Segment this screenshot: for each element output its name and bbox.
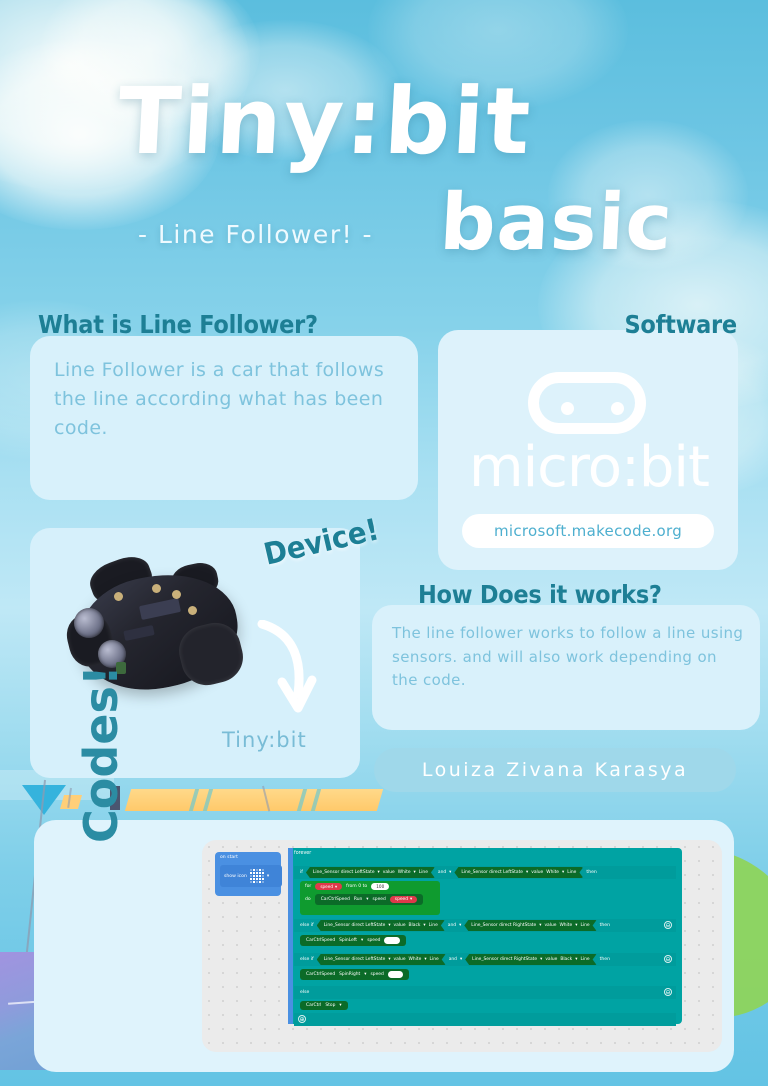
block-for-loop[interactable]: for speed ▾ from 0 to 100 do CarCtrlSpee…	[300, 881, 440, 915]
how-it-works-heading: How Does it works?	[418, 580, 662, 609]
condition-right-3[interactable]: Line_Sensor direct RightState ▾ value Bl…	[465, 954, 596, 965]
value-label: value	[544, 923, 556, 928]
block-else-row[interactable]: else ⊖	[294, 986, 676, 999]
chevron-down-icon[interactable]: ▾	[459, 923, 461, 928]
line-label: Line	[419, 870, 428, 875]
chevron-down-icon[interactable]: ▾	[575, 957, 577, 962]
operator-and-1[interactable]: and	[438, 870, 446, 875]
page-title-secondary: basic	[438, 178, 676, 268]
what-is-line-follower-heading: What is Line Follower?	[38, 310, 318, 339]
robot-connector	[188, 606, 197, 615]
poster-title-group: Tiny:bit basic - Line Follower! -	[0, 60, 768, 290]
chevron-down-icon[interactable]: ▾	[540, 957, 542, 962]
line-label: Line	[580, 957, 589, 962]
then-keyword-2: then	[600, 923, 610, 928]
block-spine	[288, 848, 293, 1024]
chevron-down-icon[interactable]: ▾	[414, 870, 416, 875]
loop-variable-pill[interactable]: speed ▾	[315, 883, 342, 890]
chevron-down-icon[interactable]: ▾	[366, 897, 368, 902]
microbit-eye-right-icon	[611, 402, 624, 415]
speed-value-input-3[interactable]: 55	[388, 971, 404, 978]
sensor-name: Line_Sensor direct LeftState	[313, 870, 375, 875]
author-name: Louiza Zivana Karasya	[422, 759, 688, 781]
block-forever-label: forever	[294, 851, 311, 856]
block-mode: SpinLeft	[339, 938, 357, 943]
line-label: Line	[430, 957, 439, 962]
robot-connector	[114, 592, 123, 601]
color-value: Black	[409, 923, 421, 928]
block-else-if-row-2[interactable]: else if Line_Sensor direct LeftState ▾ v…	[294, 919, 676, 932]
block-name: CarCtrlSpeed	[306, 972, 335, 977]
for-loop-body: do CarCtrlSpeed Run ▾ speed speed ▾	[300, 892, 440, 907]
block-else-if-row-3[interactable]: else if Line_Sensor direct LeftState ▾ v…	[294, 953, 676, 966]
line-label: Line	[429, 923, 438, 928]
value-label: value	[531, 870, 543, 875]
operator-and-2[interactable]: and	[448, 923, 456, 928]
operator-and-3[interactable]: and	[449, 957, 457, 962]
color-value: White	[546, 870, 559, 875]
block-mode: SpinRight	[339, 972, 360, 977]
speed-label: speed	[367, 938, 380, 943]
speed-label: speed	[371, 972, 384, 977]
condition-right-2[interactable]: Line_Sensor direct RightState ▾ value Wh…	[464, 920, 596, 931]
value-label: value	[394, 957, 406, 962]
chevron-down-icon[interactable]: ▾	[378, 870, 380, 875]
robot-connector	[152, 584, 161, 593]
led-matrix-icon	[250, 869, 264, 883]
chevron-down-icon[interactable]: ▾	[364, 972, 366, 977]
value-label: value	[394, 923, 406, 928]
color-value: Black	[560, 957, 572, 962]
chevron-down-icon[interactable]: ▾	[388, 923, 390, 928]
chevron-down-icon[interactable]: ▾	[526, 870, 528, 875]
do-keyword: do	[305, 897, 311, 902]
show-icon-dropdown-icon[interactable]: ▾	[267, 874, 269, 879]
makecode-url-pill[interactable]: microsoft.makecode.org	[462, 514, 714, 548]
then-keyword-1: then	[586, 870, 596, 875]
chevron-down-icon[interactable]: ▾	[410, 897, 412, 902]
chevron-down-icon[interactable]: ▾	[361, 938, 363, 943]
software-heading: Software	[624, 310, 736, 339]
makecode-url-text: microsoft.makecode.org	[494, 522, 682, 540]
chevron-down-icon[interactable]: ▾	[539, 923, 541, 928]
microbit-logo-icon	[528, 372, 646, 434]
block-name: CarCtrlSpeed	[306, 938, 335, 943]
collapse-icon[interactable]: ⊖	[664, 955, 672, 963]
condition-left-2[interactable]: Line_Sensor direct LeftState ▾ value Bla…	[317, 920, 445, 931]
chevron-down-icon[interactable]: ▾	[424, 957, 426, 962]
line-label: Line	[580, 923, 589, 928]
block-show-icon-label: show icon	[224, 874, 247, 879]
chevron-down-icon[interactable]: ▾	[562, 870, 564, 875]
block-carctrl-stop[interactable]: CarCtrl Stop ▾	[300, 1001, 348, 1010]
else-if-keyword-2: else if	[300, 923, 314, 928]
block-if-footer: ⊕	[294, 1013, 676, 1026]
block-name: CarCtrl	[306, 1003, 321, 1008]
block-carctrlspeed-spinright[interactable]: CarCtrlSpeed SpinRight ▾ speed 55	[300, 969, 409, 980]
chevron-down-icon[interactable]: ▾	[575, 923, 577, 928]
for-range-label: from 0 to	[346, 884, 367, 889]
collapse-icon[interactable]: ⊖	[664, 988, 672, 996]
color-value: White	[398, 870, 411, 875]
author-badge: Louiza Zivana Karasya	[374, 748, 736, 792]
sensor-name: Line_Sensor direct LeftState	[324, 923, 386, 928]
what-is-line-follower-body: Line Follower is a car that follows the …	[54, 356, 406, 443]
else-keyword: else	[300, 990, 309, 995]
color-value: White	[409, 957, 422, 962]
condition-left-1[interactable]: Line_Sensor direct LeftState ▾ value Whi…	[306, 867, 435, 878]
microbit-wordmark: micro:bit	[455, 435, 723, 500]
speed-variable-pill[interactable]: speed ▾	[390, 896, 417, 903]
microbit-eye-left-icon	[561, 402, 574, 415]
expand-icon[interactable]: ⊕	[298, 1015, 306, 1023]
for-keyword: for	[305, 884, 311, 889]
chevron-down-icon[interactable]: ▾	[423, 923, 425, 928]
device-caption: Tiny:bit	[222, 728, 307, 752]
condition-left-3[interactable]: Line_Sensor direct LeftState ▾ value Whi…	[317, 954, 446, 965]
block-on-start[interactable]: on start show icon ▾	[215, 852, 281, 896]
sensor-name: Line_Sensor direct LeftState	[461, 870, 523, 875]
how-it-works-body: The line follower works to follow a line…	[392, 622, 744, 693]
chevron-down-icon[interactable]: ▾	[339, 1003, 341, 1008]
sensor-name: Line_Sensor direct RightState	[472, 957, 537, 962]
chevron-down-icon[interactable]: ▾	[460, 957, 462, 962]
line-label: Line	[567, 870, 576, 875]
speed-value-input-2[interactable]: 55	[384, 937, 400, 944]
codes-heading: Codes!	[74, 665, 128, 843]
block-on-start-label: on start	[220, 855, 238, 860]
page-tagline: - Line Follower! -	[138, 220, 373, 249]
collapse-icon[interactable]: ⊖	[664, 921, 672, 929]
value-label: value	[383, 870, 395, 875]
color-value: White	[559, 923, 572, 928]
if-keyword: if	[300, 870, 303, 875]
for-loop-header: for speed ▾ from 0 to 100	[300, 881, 440, 892]
block-carctrlspeed-run[interactable]: CarCtrlSpeed Run ▾ speed speed ▾	[315, 894, 424, 905]
curved-arrow-icon	[252, 620, 322, 716]
page-title: Tiny:bit	[115, 68, 535, 175]
block-if-row-1[interactable]: if Line_Sensor direct LeftState ▾ value …	[294, 866, 676, 879]
condition-right-1[interactable]: Line_Sensor direct LeftState ▾ value Whi…	[454, 867, 583, 878]
chevron-down-icon[interactable]: ▾	[388, 957, 390, 962]
block-mode: Run	[354, 897, 362, 902]
chevron-down-icon[interactable]: ▾	[335, 884, 337, 889]
block-name: CarCtrlSpeed	[321, 897, 350, 902]
else-if-keyword-3: else if	[300, 957, 314, 962]
value-label: value	[545, 957, 557, 962]
then-keyword-3: then	[600, 957, 610, 962]
block-mode: Stop	[325, 1003, 335, 1008]
speed-label: speed	[373, 897, 386, 902]
chevron-down-icon[interactable]: ▾	[449, 870, 451, 875]
sensor-name: Line_Sensor direct RightState	[471, 923, 536, 928]
block-show-icon[interactable]: show icon ▾	[220, 865, 282, 887]
robot-ultrasonic-sensor	[74, 608, 104, 638]
loop-limit-input[interactable]: 100	[371, 883, 389, 890]
robot-connector	[172, 590, 181, 599]
block-carctrlspeed-spinleft[interactable]: CarCtrlSpeed SpinLeft ▾ speed 55	[300, 935, 406, 946]
sensor-name: Line_Sensor direct LeftState	[324, 957, 386, 962]
